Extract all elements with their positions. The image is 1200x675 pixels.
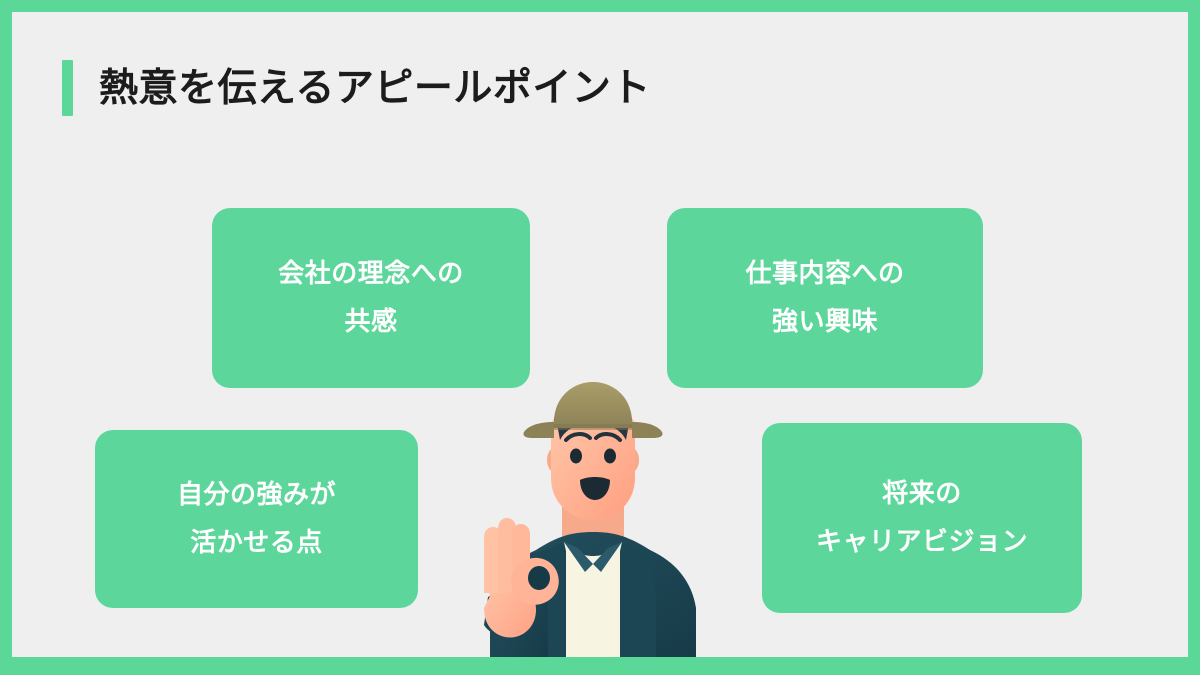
title-text: 熱意を伝えるアピールポイント: [99, 69, 651, 108]
card-career-vision[interactable]: 将来の キャリアビジョン: [762, 423, 1082, 613]
card-own-strengths[interactable]: 自分の強みが 活かせる点: [95, 430, 418, 608]
title-accent-bar: [62, 60, 73, 116]
card-company-philosophy-label: 会社の理念への 共感: [278, 250, 464, 346]
slide: 熱意を伝えるアピールポイント 会社の理念への 共感 仕事内容への 強い興味 自分…: [0, 0, 1200, 675]
person-ok-gesture-illustration: [444, 382, 754, 657]
page-title: 熱意を伝えるアピールポイント: [62, 59, 651, 117]
card-own-strengths-label: 自分の強みが 活かせる点: [177, 471, 336, 567]
card-job-interest[interactable]: 仕事内容への 強い興味: [667, 208, 983, 388]
card-company-philosophy[interactable]: 会社の理念への 共感: [212, 208, 530, 388]
slide-canvas: 熱意を伝えるアピールポイント 会社の理念への 共感 仕事内容への 強い興味 自分…: [12, 12, 1188, 657]
card-job-interest-label: 仕事内容への 強い興味: [745, 250, 904, 346]
card-career-vision-label: 将来の キャリアビジョン: [816, 470, 1028, 566]
